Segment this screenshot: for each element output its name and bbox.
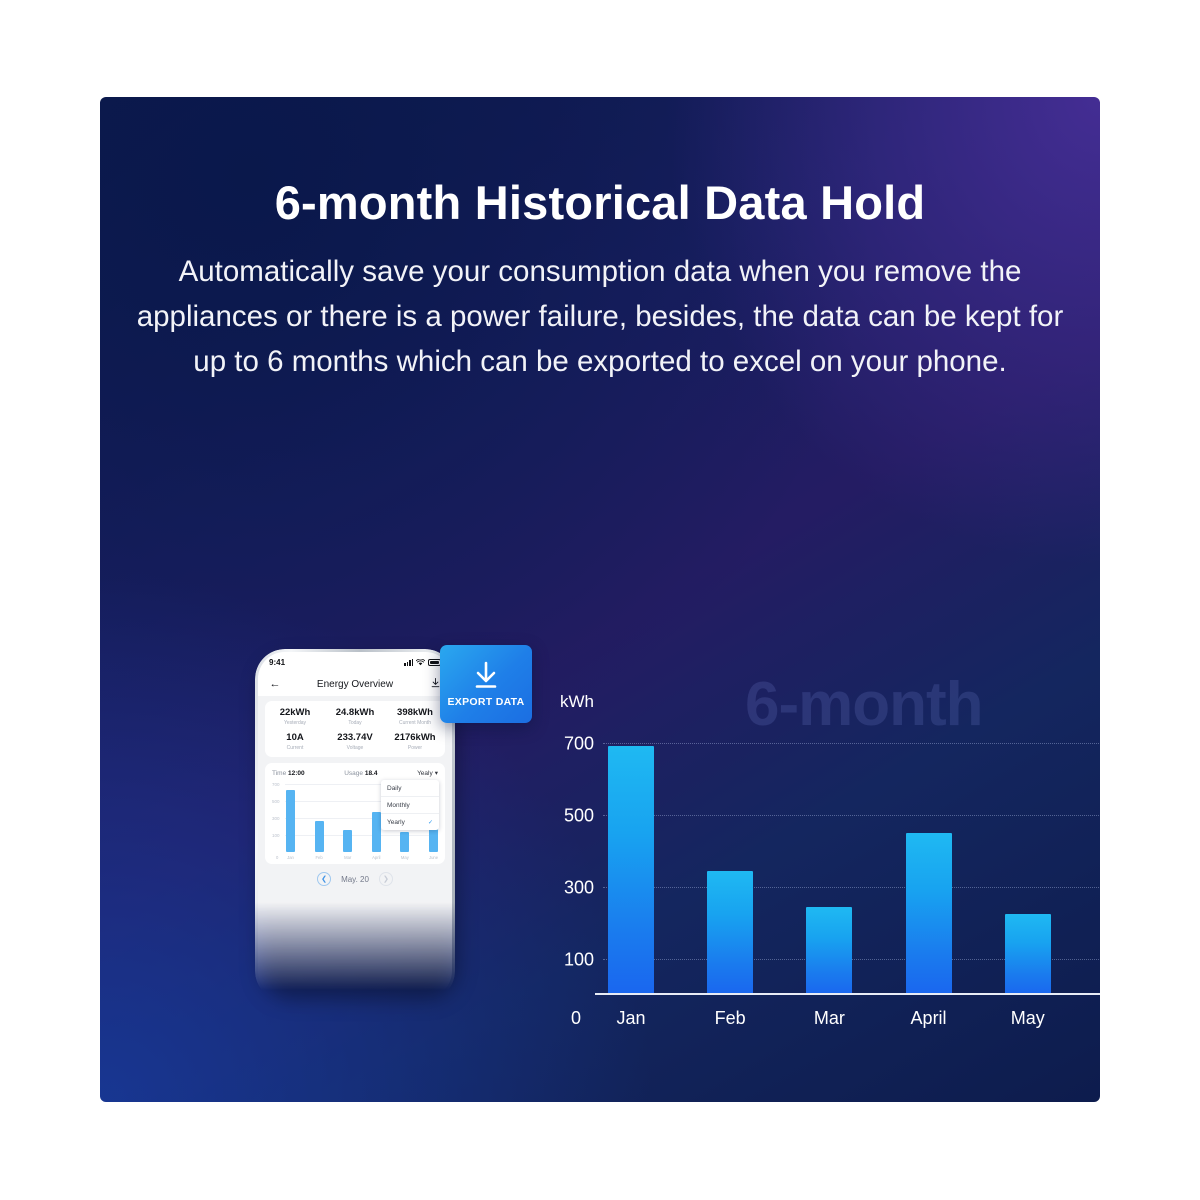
status-icons [404, 659, 441, 666]
phone-status-bar: 9:41 [258, 652, 452, 672]
mini-bar [372, 812, 381, 852]
x-axis-tick-label: June [1099, 1008, 1100, 1029]
stat-value: 10A [265, 732, 325, 744]
range-selected-label: Yealy [417, 770, 433, 777]
y-axis-tick-label: 100 [564, 949, 594, 970]
x-axis-tick-label: Mar [801, 1008, 857, 1029]
stat-label: Yesterday [265, 720, 325, 726]
stat-tile: 10A Current [265, 732, 325, 751]
page-title: 6-month Historical Data Hold [100, 175, 1100, 230]
stat-tiles: 22kWh Yesterday 24.8kWh Today 398kWh Cur… [265, 701, 445, 757]
screenshot-root: 6-month Historical Data Hold Automatical… [0, 0, 1200, 1200]
back-arrow-icon[interactable]: ← [268, 678, 282, 690]
stat-label: Current [265, 745, 325, 751]
energy-bar-chart: kWh 100300500700 0 JanFebMarAprilMayJune [555, 697, 1100, 1037]
stat-label: Voltage [325, 745, 385, 751]
mini-y-tick: 500 [272, 799, 280, 804]
phone-chart-card: Time 12:00 Usage 18.4 Yealy ▾ [265, 763, 445, 864]
bar-column [901, 721, 957, 995]
cellular-signal-icon [404, 659, 413, 666]
stat-tile: 22kWh Yesterday [265, 707, 325, 726]
time-readout: Time 12:00 [272, 770, 305, 777]
time-value: 12:00 [288, 770, 305, 777]
download-icon [469, 661, 503, 691]
x-axis-tick-label: April [901, 1008, 957, 1029]
stat-tile: 233.74V Voltage [325, 732, 385, 751]
y-axis-unit-label: kWh [560, 692, 594, 712]
dropdown-option-monthly[interactable]: Monthly [381, 797, 439, 814]
mini-zero-label: 0 [276, 855, 278, 860]
bar [707, 871, 753, 995]
mini-bar [343, 830, 352, 852]
y-axis-tick-label: 500 [564, 805, 594, 826]
phone-screen: 9:41 ← Energy Ov [258, 652, 452, 998]
stat-value: 2176kWh [385, 732, 445, 744]
wifi-icon [416, 659, 425, 666]
export-data-button[interactable]: EXPORT DATA [440, 645, 532, 723]
status-time: 9:41 [269, 658, 285, 667]
chart-x-labels: JanFebMarAprilMayJune [603, 1008, 1100, 1029]
phone-date-nav: ❮ May. 20 ❯ [258, 872, 452, 886]
stat-tile: 2176kWh Power [385, 732, 445, 751]
range-selector[interactable]: Yealy ▾ [417, 769, 438, 777]
chart-plot-area: 100300500700 [603, 721, 1100, 995]
bar-column [1000, 721, 1056, 995]
stat-label: Power [385, 745, 445, 751]
stat-tile: 398kWh Current Month [385, 707, 445, 726]
export-data-label: EXPORT DATA [448, 696, 525, 708]
y-axis-zero-label: 0 [571, 1008, 581, 1029]
feature-card: 6-month Historical Data Hold Automatical… [100, 97, 1100, 1102]
date-label: May. 20 [341, 875, 369, 884]
y-axis-tick-label: 700 [564, 733, 594, 754]
stat-label: Today [325, 720, 385, 726]
stat-label: Current Month [385, 720, 445, 726]
bar-column [1099, 721, 1100, 995]
dropdown-option-daily[interactable]: Daily [381, 780, 439, 797]
bar [806, 907, 852, 995]
phone-body: 9:41 ← Energy Ov [255, 649, 455, 1001]
usage-value: 18.4 [365, 770, 378, 777]
y-axis-tick-label: 300 [564, 877, 594, 898]
mini-y-tick: 100 [272, 833, 280, 838]
chart-bars [603, 721, 1100, 995]
mini-bar [315, 821, 324, 852]
dropdown-option-yearly[interactable]: Yearly ✓ [381, 814, 439, 830]
phone-nav-bar: ← Energy Overview [258, 672, 452, 696]
mini-x-labels: Jan Feb Mar April May June [286, 855, 438, 860]
phone-screen-title: Energy Overview [282, 679, 428, 690]
bar-column [702, 721, 758, 995]
stat-tile: 24.8kWh Today [325, 707, 385, 726]
stat-value: 398kWh [385, 707, 445, 719]
chart-x-axis [595, 993, 1100, 995]
page-description: Automatically save your consumption data… [125, 249, 1075, 384]
check-icon: ✓ [428, 819, 433, 826]
stat-value: 22kWh [265, 707, 325, 719]
bar [1005, 914, 1051, 995]
phone-mockup: 9:41 ← Energy Ov [255, 649, 465, 1009]
range-dropdown-menu[interactable]: Daily Monthly Yearly ✓ [381, 780, 439, 830]
bar [608, 746, 654, 995]
chevron-right-icon[interactable]: ❯ [379, 872, 393, 886]
x-axis-tick-label: May [1000, 1008, 1056, 1029]
bar-column [603, 721, 659, 995]
stat-value: 24.8kWh [325, 707, 385, 719]
usage-readout: Usage 18.4 [344, 770, 377, 777]
bar-column [801, 721, 857, 995]
phone-chart-header: Time 12:00 Usage 18.4 Yealy ▾ [272, 769, 438, 777]
stat-value: 233.74V [325, 732, 385, 744]
x-axis-tick-label: Jan [603, 1008, 659, 1029]
mini-bar [400, 832, 409, 852]
mini-bar [286, 790, 295, 852]
mini-y-tick: 700 [272, 782, 280, 787]
chevron-left-icon[interactable]: ❮ [317, 872, 331, 886]
mini-y-tick: 300 [272, 816, 280, 821]
x-axis-tick-label: Feb [702, 1008, 758, 1029]
bar [906, 833, 952, 995]
chevron-down-icon: ▾ [435, 769, 438, 777]
